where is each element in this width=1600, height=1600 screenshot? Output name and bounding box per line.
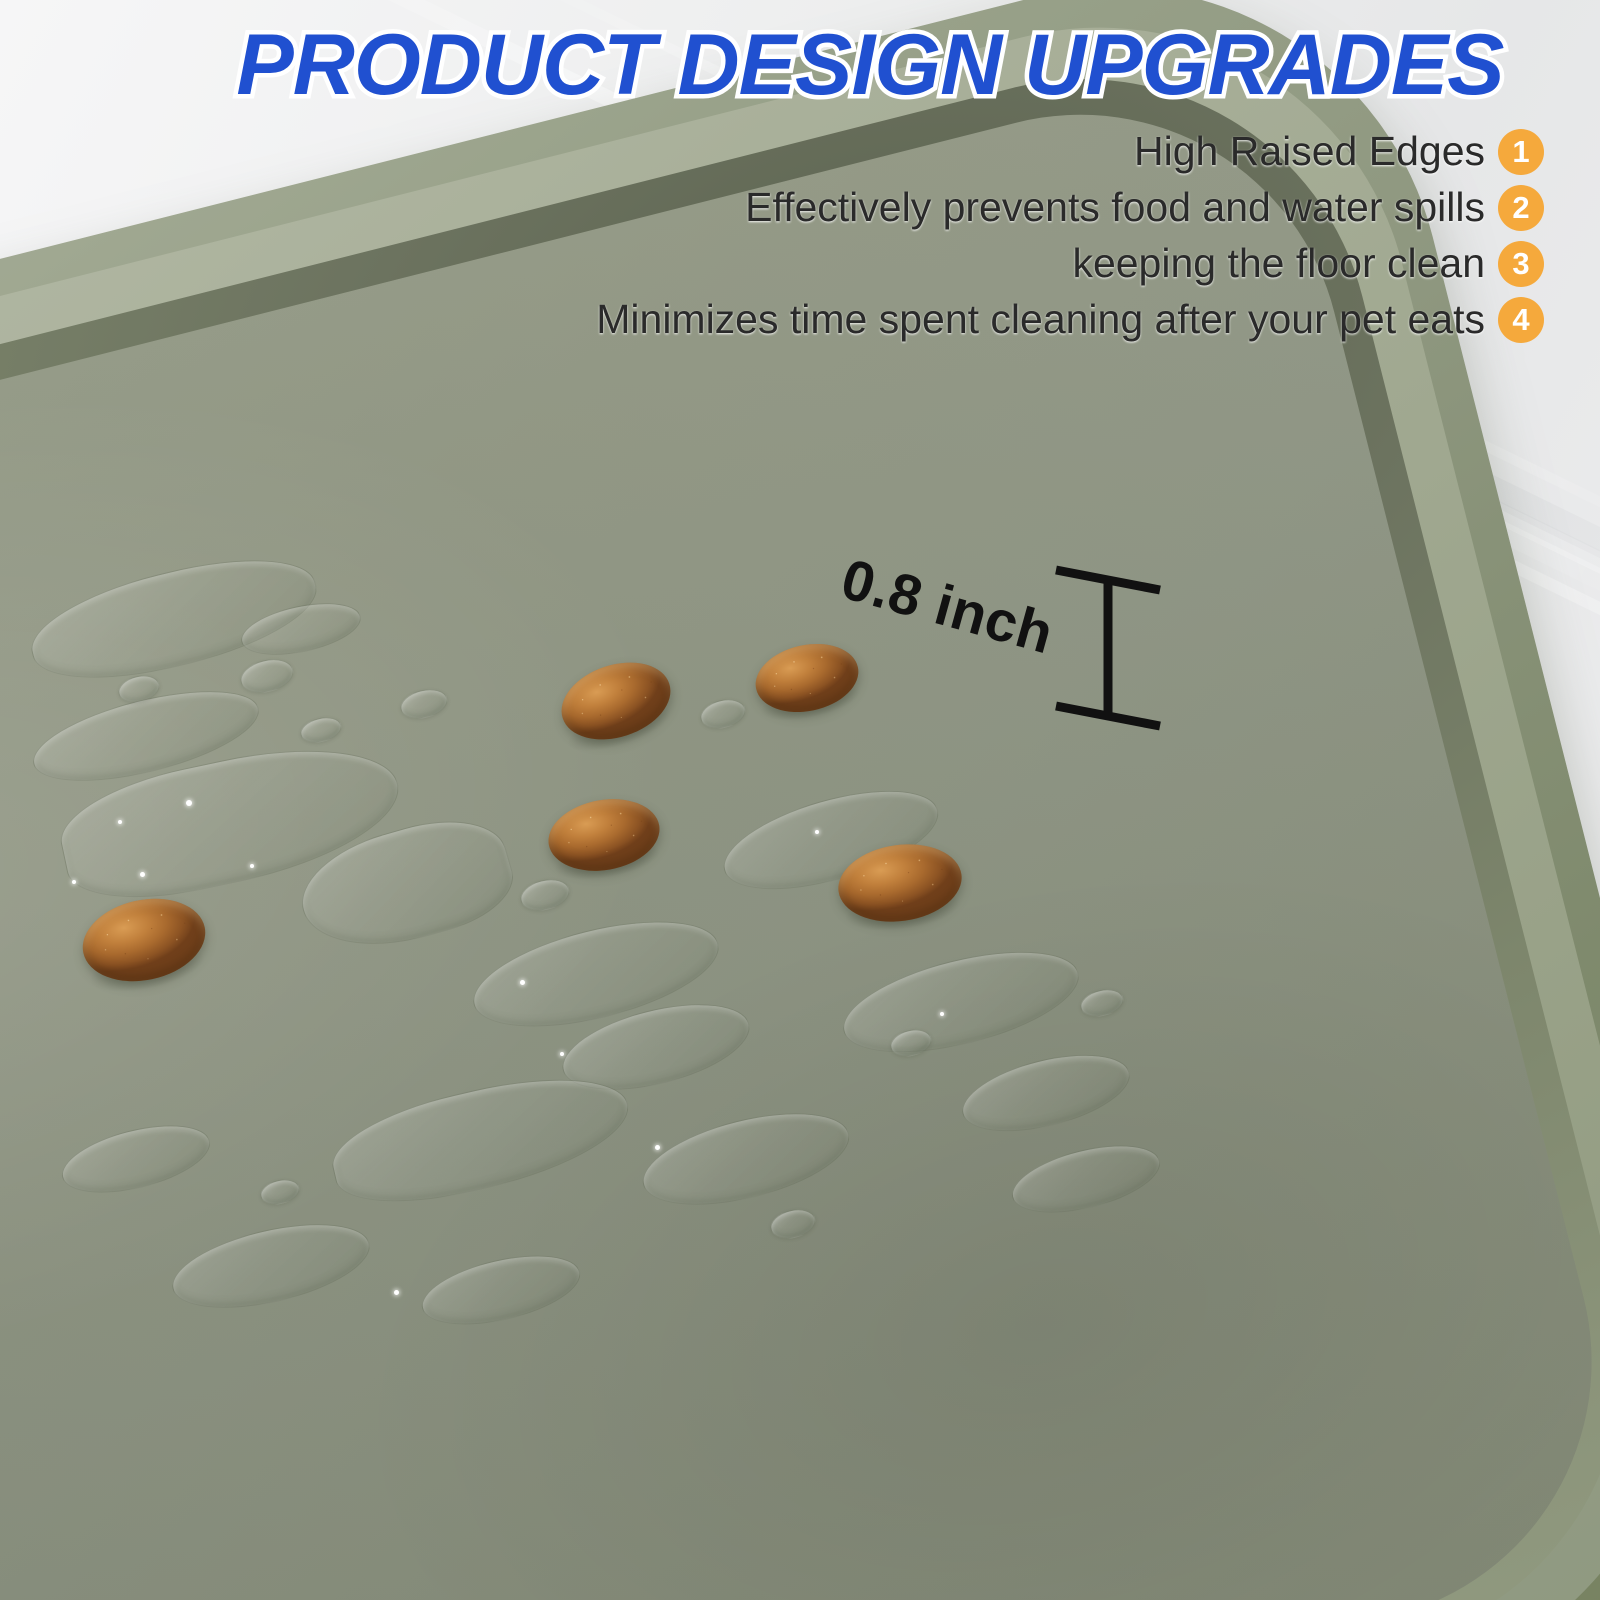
- dimension-bracket-icon: [1048, 548, 1168, 738]
- feature-label: Effectively prevents food and water spil…: [745, 184, 1485, 231]
- feature-row: Minimizes time spent cleaning after your…: [596, 296, 1544, 343]
- feature-label: keeping the floor clean: [1072, 240, 1485, 287]
- feature-number-badge: 4: [1498, 297, 1544, 343]
- feature-number-badge: 1: [1498, 129, 1544, 175]
- feature-number-badge: 2: [1498, 185, 1544, 231]
- product-marketing-image: 0.8 inch PRODUCT DESIGN UPGRADES High Ra…: [0, 0, 1600, 1600]
- feature-row: keeping the floor clean3: [1072, 240, 1544, 287]
- feature-list: High Raised Edges1Effectively prevents f…: [244, 128, 1544, 343]
- page-title: PRODUCT DESIGN UPGRADES: [150, 20, 1590, 110]
- feature-label: Minimizes time spent cleaning after your…: [596, 296, 1485, 343]
- feature-row: Effectively prevents food and water spil…: [745, 184, 1544, 231]
- feature-row: High Raised Edges1: [1134, 128, 1544, 175]
- feature-label: High Raised Edges: [1134, 128, 1485, 175]
- feature-number-badge: 3: [1498, 241, 1544, 287]
